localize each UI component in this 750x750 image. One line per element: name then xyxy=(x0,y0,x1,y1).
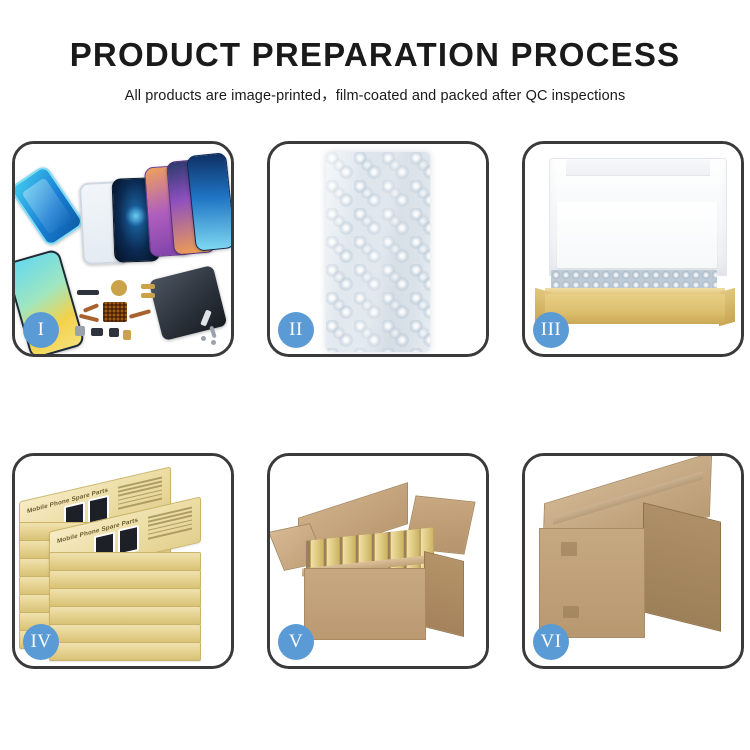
spare-part-vibrator xyxy=(91,328,103,336)
step-badge-3: III xyxy=(533,312,569,348)
plastic-sheen xyxy=(326,152,430,352)
box-lid-fold xyxy=(566,159,710,176)
carton-right-face xyxy=(424,551,464,637)
process-step-panel-6[interactable]: VI xyxy=(522,453,744,669)
page-header: PRODUCT PREPARATION PROCESS All products… xyxy=(0,0,750,105)
spare-part-metal-bracket xyxy=(75,326,85,336)
spare-part-sim-tray xyxy=(123,330,131,340)
kraft-box-phone-image-front-2 xyxy=(118,525,139,556)
spare-part-chip-array xyxy=(103,302,127,322)
process-step-panel-1[interactable]: I xyxy=(12,141,234,357)
page-title: PRODUCT PREPARATION PROCESS xyxy=(0,0,750,73)
spare-part-camera-lens xyxy=(111,280,127,296)
kraft-box-front-1 xyxy=(49,552,201,571)
spare-part-gold-connector-2 xyxy=(141,293,155,298)
process-step-panel-4[interactable]: Mobile Phone Spare Parts Mobile Phone Sp… xyxy=(12,453,234,669)
carton-hand-hole-bottom xyxy=(563,606,579,618)
sealed-carton-side-face xyxy=(643,502,721,631)
spare-part-speaker xyxy=(109,328,119,337)
step-badge-6: VI xyxy=(533,624,569,660)
page-subtitle: All products are image-printed，film-coat… xyxy=(0,73,750,105)
kraft-box-front-3 xyxy=(49,588,201,607)
process-step-panel-5[interactable]: V xyxy=(267,453,489,669)
step-badge-4: IV xyxy=(23,624,59,660)
bubble-wrapped-product xyxy=(326,152,430,352)
kraft-box-spec-lines-front xyxy=(148,507,192,542)
step-badge-5: V xyxy=(278,624,314,660)
kraft-box-front-4 xyxy=(49,606,201,625)
sealed-carton-front-face xyxy=(539,528,645,638)
carton-hand-hole-top xyxy=(561,542,577,556)
kraft-box-front-6 xyxy=(49,642,201,661)
phone-screen-adhesive xyxy=(15,164,85,248)
step-badge-2: II xyxy=(278,312,314,348)
foam-padding xyxy=(557,202,717,268)
spare-part-screw xyxy=(201,336,206,341)
spare-part-flex-cable-3 xyxy=(129,309,151,319)
spare-part-earpiece-mesh xyxy=(77,290,99,295)
spare-part-flex-cable xyxy=(83,303,99,313)
step-badge-1: I xyxy=(23,312,59,348)
box-front-panel xyxy=(545,294,725,324)
spare-part-flex-cable-2 xyxy=(79,314,99,323)
process-step-grid: I II III xyxy=(12,141,738,681)
process-step-panel-2[interactable]: II xyxy=(267,141,489,357)
process-step-panel-3[interactable]: III xyxy=(522,141,744,357)
kraft-box-front-2 xyxy=(49,570,201,589)
kraft-box-front-5 xyxy=(49,624,201,643)
spare-part-gold-connector xyxy=(141,284,155,289)
spare-part-screw-2 xyxy=(211,340,216,345)
carton-front-face xyxy=(304,568,426,640)
phone-back-housing xyxy=(148,265,227,341)
